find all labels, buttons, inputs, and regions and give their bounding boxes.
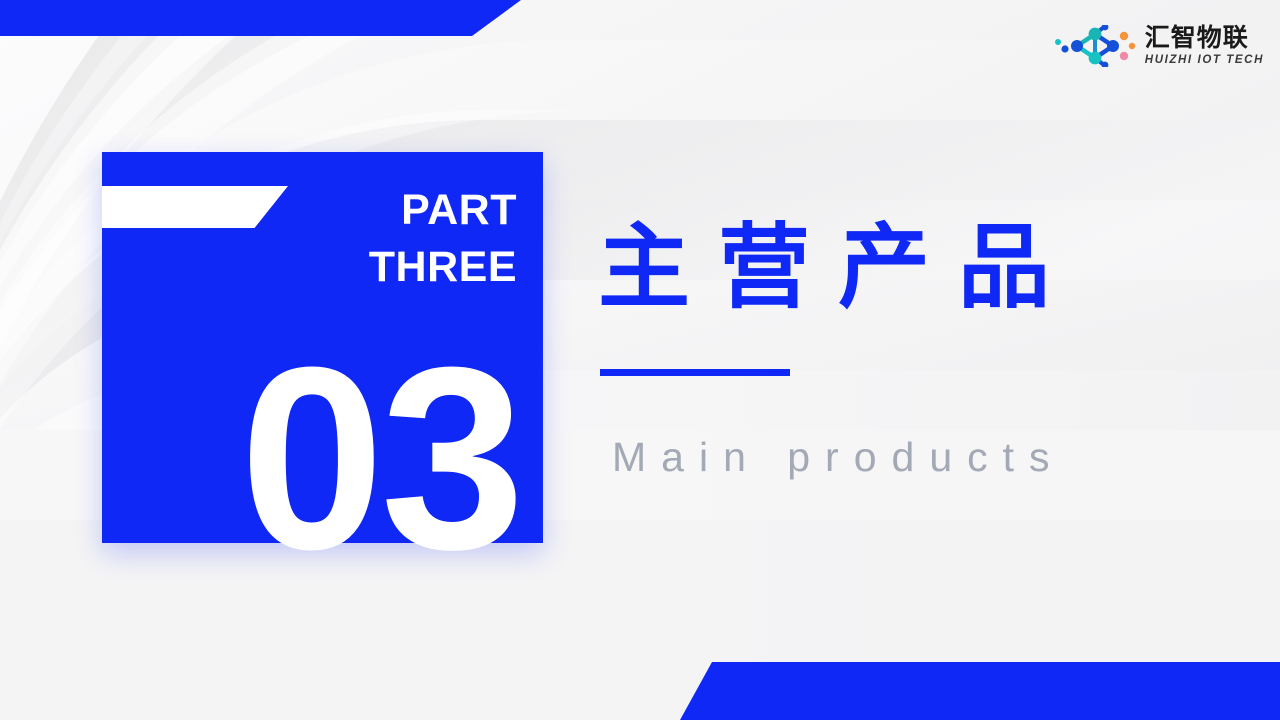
logo-text-block: 汇智物联 HUIZHI IOT TECH (1145, 26, 1264, 67)
page-subtitle-english: Main products (612, 432, 1065, 482)
part-label: PART THREE (257, 182, 517, 296)
logo-company-name-english: HUIZHI IOT TECH (1145, 55, 1264, 67)
section-number-card: PART THREE 03 (102, 152, 543, 543)
company-logo: 汇智物联 HUIZHI IOT TECH (1052, 22, 1264, 70)
part-label-line-1: PART (257, 182, 517, 239)
logo-company-name-chinese: 汇智物联 (1145, 26, 1264, 51)
page-title-chinese: 主营产品 (598, 216, 1078, 320)
title-underline-rule (600, 369, 790, 376)
bottom-right-blue-band (680, 662, 1280, 720)
top-left-blue-band (0, 0, 560, 36)
slide-canvas: PART THREE 03 主营产品 Main products (0, 0, 1280, 720)
molecular-network-icon (1052, 25, 1138, 67)
part-label-line-2: THREE (257, 239, 517, 296)
section-number: 03 (240, 329, 521, 589)
